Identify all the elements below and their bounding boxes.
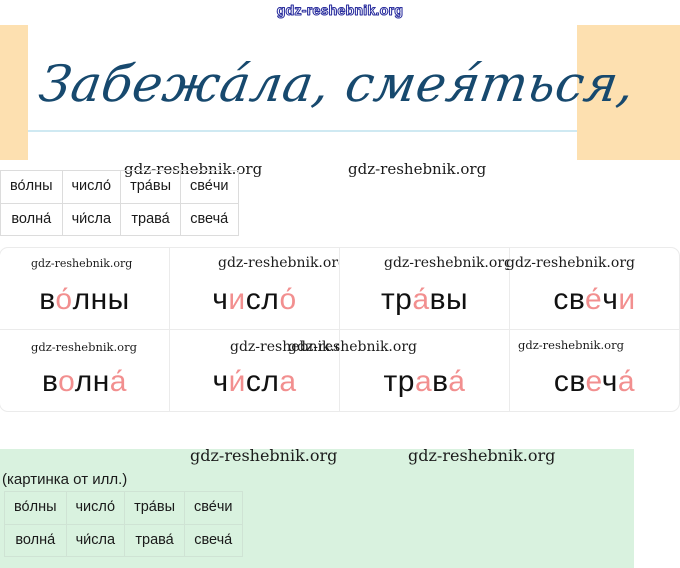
table-row: во́лны число́ тра́вы све́чи	[1, 171, 239, 204]
word-part-mid: сл	[246, 365, 280, 398]
word-card: gdz-reshebnik.org число́	[169, 247, 340, 330]
word-part-stressed: а́	[412, 283, 429, 316]
word-part-suffix: вы	[430, 283, 469, 316]
word-card: gdz-reshebnik.org све́чи	[509, 247, 680, 330]
word-singular-trava: трава́	[384, 367, 466, 397]
word-part-stressed: е	[586, 365, 602, 398]
word-part-mid: ч	[602, 365, 618, 398]
word-part-stressed: е́	[585, 283, 602, 316]
watermark-cell: gdz-reshebnik.org	[506, 256, 635, 270]
watermark-mid-right: gdz-reshebnik.org	[348, 160, 486, 178]
table-cell: све́чи	[185, 492, 243, 525]
accent-block-left	[0, 25, 28, 160]
word-part-mid: в	[432, 365, 448, 398]
table-row: волна́ чи́сла трава́ свеча́	[1, 203, 239, 236]
word-part-stressed: и	[228, 283, 245, 316]
watermark-cell: gdz-reshebnik.org	[384, 256, 513, 270]
word-card-table: gdz-reshebnik.org во́лны gdz-reshebnik.o…	[0, 248, 680, 413]
table-cell: число́	[62, 171, 121, 204]
word-part-stressed-2: о́	[280, 283, 297, 316]
watermark-cell: gdz-reshebnik.org	[31, 258, 132, 269]
handwriting-banner: Забежа́ла, смея́ться,	[0, 25, 680, 160]
word-part-stressed-2: а́	[618, 365, 635, 398]
table-cell: во́лны	[1, 171, 63, 204]
table-cell: свеча́	[181, 203, 239, 236]
writing-guide-line	[28, 130, 577, 132]
word-card: gdz-reshebnik.org тра́вы	[339, 247, 510, 330]
word-part-stressed-2: а́	[110, 365, 127, 398]
word-part-prefix: ч	[212, 283, 228, 316]
word-plural-travy: тра́вы	[381, 285, 468, 315]
word-plural-volny: во́лны	[39, 285, 129, 315]
table-cell: тра́вы	[121, 171, 181, 204]
word-part-prefix: тр	[384, 365, 415, 398]
watermark-cell: gdz-reshebnik.org	[31, 342, 137, 354]
table-cell: тра́вы	[125, 492, 185, 525]
word-part-prefix: ч	[212, 365, 228, 398]
word-singular-volna: волна́	[42, 367, 127, 397]
word-part-mid: лн	[75, 365, 110, 398]
footer-caption: (картинка от илл.)	[2, 471, 127, 488]
watermark-cell-text: gdz-reshebnik.org	[506, 255, 635, 271]
watermark-cell: gdz-reshebnik.org	[288, 340, 417, 354]
word-part-mid: ч	[602, 283, 618, 316]
table-cell: волна́	[1, 203, 63, 236]
word-part-prefix: св	[554, 365, 586, 398]
table-cell: волна́	[5, 524, 67, 557]
word-card: gdz-reshebnik.org свеча́	[509, 329, 680, 412]
word-part-mid: сл	[246, 283, 280, 316]
word-part-prefix: тр	[381, 283, 412, 316]
table-row: gdz-reshebnik.org во́лны gdz-reshebnik.o…	[0, 248, 680, 330]
word-plural-chisla: чи́сла	[212, 367, 296, 397]
word-part-stressed: о́	[55, 283, 72, 316]
table-cell: трава́	[125, 524, 185, 557]
word-part-stressed-2: и	[618, 283, 635, 316]
word-part-prefix: в	[42, 365, 58, 398]
word-singular-chislo: число́	[212, 285, 296, 315]
table-cell: чи́сла	[66, 524, 125, 557]
word-part-prefix: св	[553, 283, 585, 316]
watermark-footer-left: gdz-reshebnik.org	[190, 446, 337, 465]
word-plural-svechi: све́чи	[553, 285, 635, 315]
watermark-footer-right: gdz-reshebnik.org	[408, 446, 555, 465]
stress-table-bottom: во́лны число́ тра́вы све́чи волна́ чи́сл…	[4, 491, 243, 557]
table-row: gdz-reshebnik.org волна́ gdz-reshebnik.o…	[0, 330, 680, 412]
word-card: gdz-reshebnik.org во́лны	[0, 247, 170, 330]
word-part-stressed: о	[58, 365, 75, 398]
table-cell: число́	[66, 492, 125, 525]
watermark-cell: gdz-reshebnik.org	[518, 340, 624, 352]
word-part-stressed-2: а́	[448, 365, 465, 398]
table-row: волна́ чи́сла трава́ свеча́	[5, 524, 243, 557]
table-cell: трава́	[121, 203, 181, 236]
stress-table-top: во́лны число́ тра́вы све́чи волна́ чи́сл…	[0, 170, 239, 236]
watermark-cell: gdz-reshebnik.org	[218, 256, 347, 270]
table-cell: во́лны	[5, 492, 67, 525]
table-cell: чи́сла	[62, 203, 121, 236]
word-part-suffix: лны	[73, 283, 130, 316]
word-card: gdz-reshebnik.org волна́	[0, 329, 170, 412]
table-cell: свеча́	[185, 524, 243, 557]
table-cell: све́чи	[181, 171, 239, 204]
word-singular-svecha: свеча́	[554, 367, 635, 397]
table-row: во́лны число́ тра́вы све́чи	[5, 492, 243, 525]
handwriting-text: Забежа́ла, смея́ться,	[36, 59, 589, 109]
word-part-prefix: в	[39, 283, 55, 316]
word-part-stressed-2: а	[279, 365, 296, 398]
word-part-stressed: и́	[229, 365, 246, 398]
word-card: gdz-reshebnik.org трава́	[339, 329, 510, 412]
word-part-stressed: а	[415, 365, 432, 398]
watermark-top: gdz-reshebnik.org	[0, 2, 680, 18]
